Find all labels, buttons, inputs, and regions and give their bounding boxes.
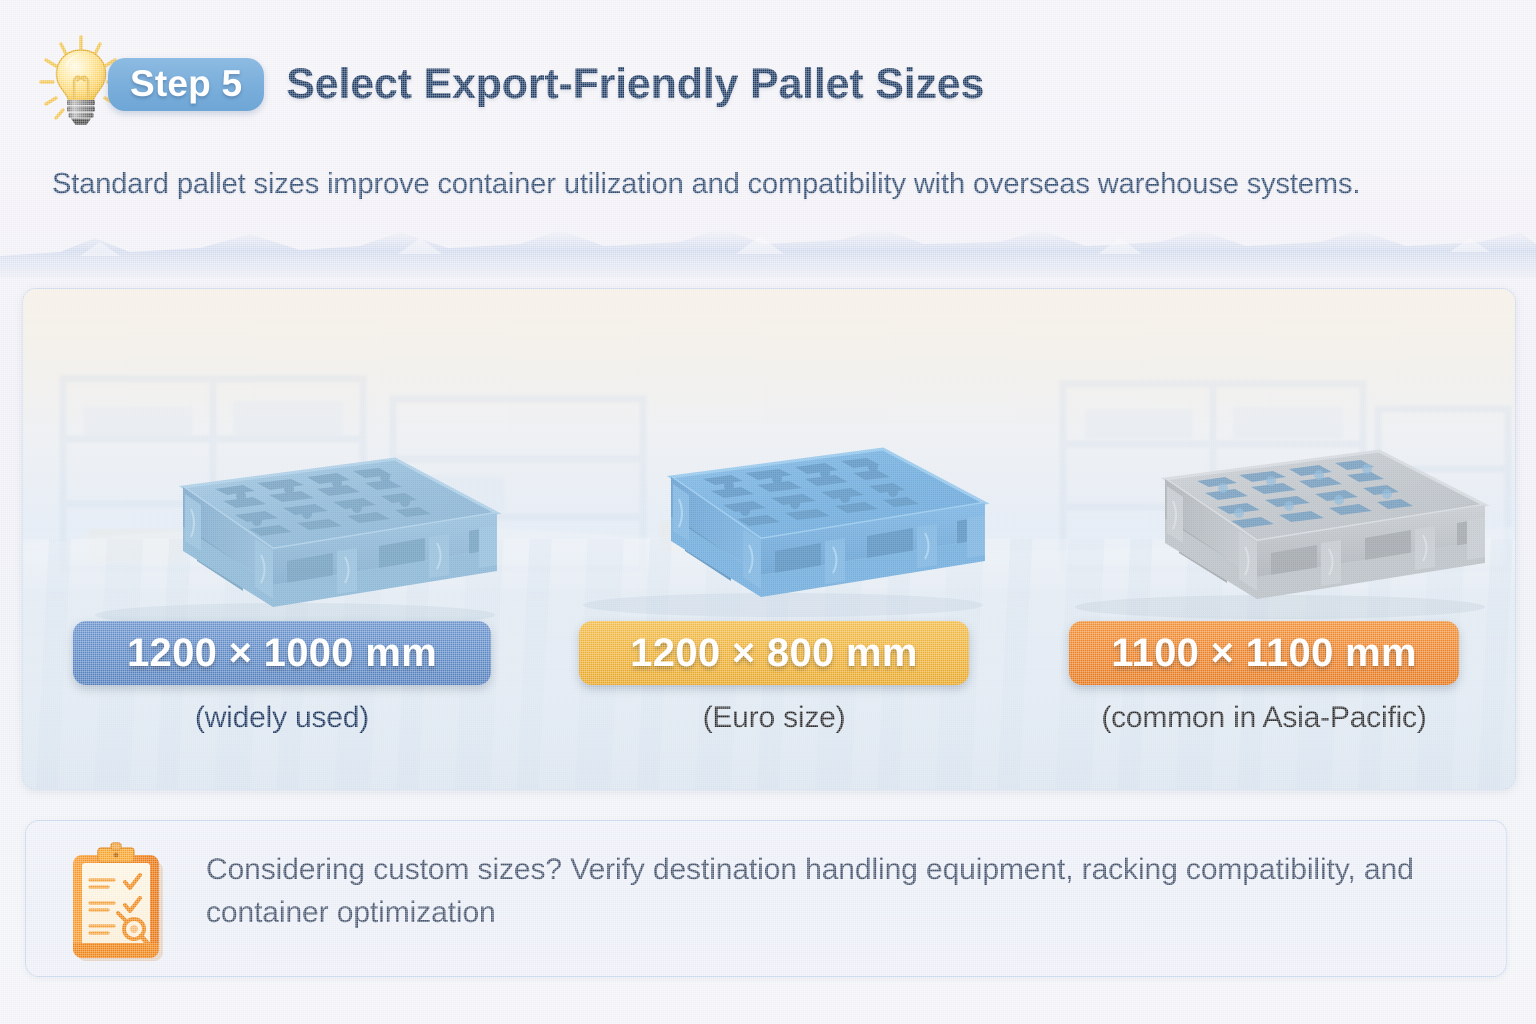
size-badge-1100x1100: 1100 × 1100 mm bbox=[1069, 621, 1459, 685]
size-caption-1100x1100: (common in Asia-Pacific) bbox=[1059, 701, 1469, 735]
clipboard-checklist-icon bbox=[64, 839, 176, 965]
size-caption-1200x800: (Euro size) bbox=[579, 701, 969, 735]
page-title: Select Export-Friendly Pallet Sizes bbox=[286, 60, 984, 109]
pallet-photo-panel: 1200 × 1000 mm (widely used) 1200 × 800 … bbox=[22, 288, 1516, 790]
title-row: Step 5 Select Export-Friendly Pallet Siz… bbox=[34, 44, 984, 124]
size-caption-1200x1000: (widely used) bbox=[73, 701, 491, 735]
infographic-page: Step 5 Select Export-Friendly Pallet Siz… bbox=[0, 0, 1536, 1024]
header: Step 5 Select Export-Friendly Pallet Siz… bbox=[0, 0, 1536, 222]
note-text: Considering custom sizes? Verify destina… bbox=[206, 849, 1466, 934]
size-badge-1200x1000: 1200 × 1000 mm bbox=[73, 621, 491, 685]
size-badge-1200x800: 1200 × 800 mm bbox=[579, 621, 969, 685]
pallet-image-1100x1100 bbox=[1045, 431, 1495, 621]
note-box: Considering custom sizes? Verify destina… bbox=[25, 820, 1507, 977]
pallet-image-1200x800 bbox=[553, 429, 993, 619]
step-badge: Step 5 bbox=[108, 58, 264, 111]
subtitle: Standard pallet sizes improve container … bbox=[52, 168, 1360, 201]
warehouse-silhouette-band bbox=[0, 222, 1536, 278]
pallet-image-1200x1000 bbox=[65, 439, 505, 629]
